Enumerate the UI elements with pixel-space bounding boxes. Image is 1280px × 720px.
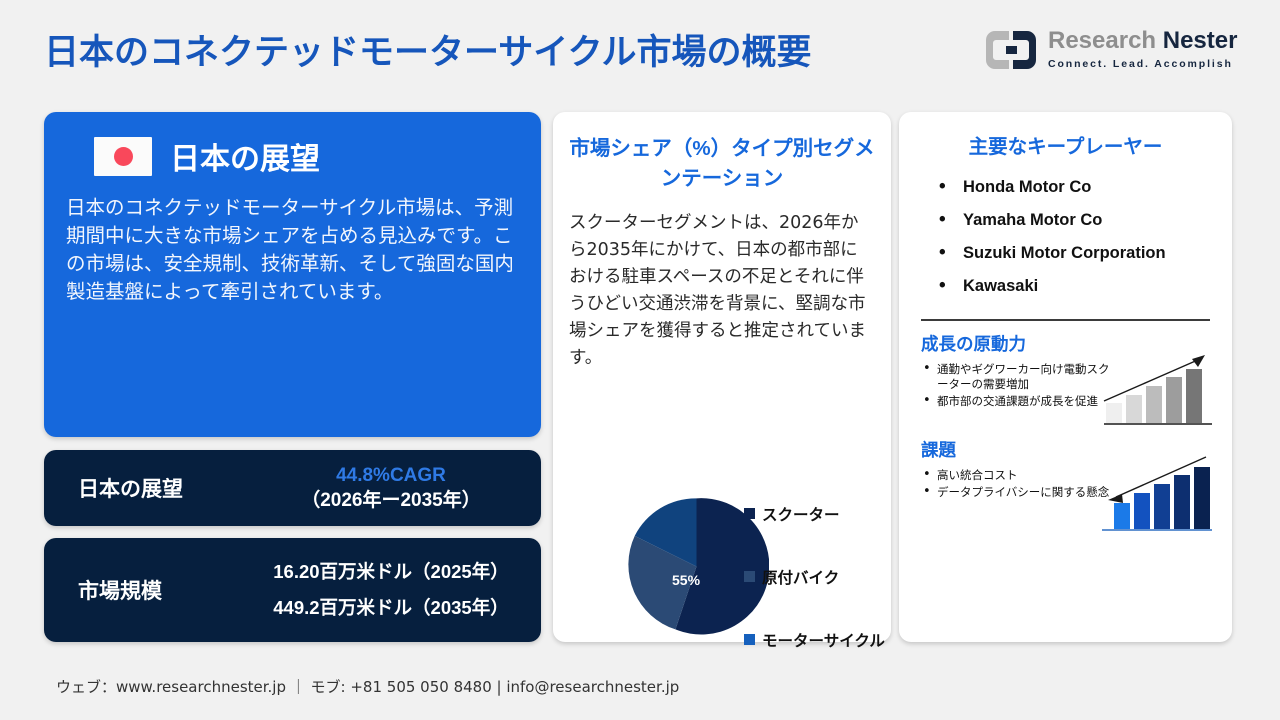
logo-tagline: Connect. Lead. Accomplish [1048, 58, 1233, 70]
cagr-stat-card: 日本の展望 44.8%CAGR （2026年ー2035年） [44, 450, 541, 526]
market-share-body: スクーターセグメントは、2026年から2035年にかけて、日本の都市部における駐… [569, 210, 875, 372]
legend-label-motorcycle: モーターサイクル [762, 629, 885, 651]
market-share-title: 市場シェア（%）タイプ別セグメンテーション [569, 134, 875, 194]
key-players-card: 主要なキープレーヤー Honda Motor Co Yamaha Motor C… [899, 112, 1232, 642]
market-size-2035: 449.2百万米ドル（2035年） [249, 590, 533, 626]
outlook-card-title: 日本の展望 [170, 134, 320, 178]
legend-swatch-scooter [744, 508, 755, 519]
key-players-title: 主要なキープレーヤー [913, 130, 1218, 159]
logo-mark-icon [982, 31, 1040, 69]
list-item: 高い統合コスト [921, 468, 1116, 483]
market-size-card: 市場規模 16.20百万米ドル（2025年） 449.2百万米ドル（2035年） [44, 538, 541, 642]
cagr-period: （2026年ー2035年） [249, 488, 533, 513]
cagr-stat-values: 44.8%CAGR （2026年ー2035年） [249, 464, 541, 513]
list-item: Kawasaki [939, 270, 1218, 303]
legend-item-scooter: スクーター [744, 482, 924, 545]
outlook-card-header: 日本の展望 [94, 134, 519, 178]
japan-outlook-card: 日本の展望 日本のコネクテッドモーターサイクル市場は、予測期間中に大きな市場シェ… [44, 112, 541, 437]
list-item: 通勤やギグワーカー向け電動スクーターの需要増加 [921, 362, 1116, 392]
pie-chart-area: 55% スクーター 原付バイク モーターサイクル [569, 512, 875, 632]
list-item: Suzuki Motor Corporation [939, 237, 1218, 270]
cagr-stat-label: 日本の展望 [44, 473, 249, 503]
legend-swatch-motorcycle [744, 634, 755, 645]
market-size-values: 16.20百万米ドル（2025年） 449.2百万米ドル（2035年） [249, 554, 541, 626]
challenges-section: 課題 高い統合コスト データプライバシーに関する懸念 [913, 427, 1218, 500]
research-nester-logo: Research Nester Connect. Lead. Accomplis… [982, 28, 1234, 72]
challenges-list: 高い統合コスト データプライバシーに関する懸念 [921, 468, 1116, 500]
logo-word-nester: Nester [1163, 27, 1238, 54]
list-item: 都市部の交通課題が成長を促進 [921, 394, 1116, 409]
logo-wordmark: Research Nester Connect. Lead. Accomplis… [1048, 28, 1237, 72]
legend-label-moped: 原付バイク [762, 566, 839, 588]
legend-item-moped: 原付バイク [744, 545, 924, 608]
growth-drivers-bar-chart [1102, 347, 1214, 429]
footer-contact: ウェブ：www.researchnester.jp ｜ モブ: +81 505 … [56, 676, 679, 697]
list-item: データプライバシーに関する懸念 [921, 485, 1116, 500]
market-share-card: 市場シェア（%）タイプ別セグメンテーション スクーターセグメントは、2026年か… [553, 112, 891, 642]
challenges-bar-chart [1102, 453, 1214, 535]
pie-legend: スクーター 原付バイク モーターサイクル [744, 482, 924, 671]
cagr-value: 44.8%CAGR [249, 464, 533, 488]
page-title: 日本のコネクテッドモーターサイクル市場の概要 [44, 24, 812, 75]
list-item: Honda Motor Co [939, 171, 1218, 204]
legend-swatch-moped [744, 571, 755, 582]
pie-data-label-scooter: 55% [672, 572, 700, 588]
key-players-list: Honda Motor Co Yamaha Motor Co Suzuki Mo… [913, 171, 1218, 303]
legend-label-scooter: スクーター [762, 503, 840, 525]
japan-flag-icon [94, 137, 152, 176]
growth-drivers-list: 通勤やギグワーカー向け電動スクーターの需要増加 都市部の交通課題が成長を促進 [921, 362, 1116, 409]
market-size-2025: 16.20百万米ドル（2025年） [249, 554, 533, 590]
logo-word-research: Research [1048, 27, 1156, 54]
header: 日本のコネクテッドモーターサイクル市場の概要 Research Nester C… [0, 0, 1280, 96]
growth-drivers-section: 成長の原動力 通勤やギグワーカー向け電動スクーターの需要増加 都市部の交通課題が… [913, 321, 1218, 409]
market-size-label: 市場規模 [44, 575, 249, 605]
legend-item-motorcycle: モーターサイクル [744, 608, 924, 671]
list-item: Yamaha Motor Co [939, 204, 1218, 237]
infographic-page: 日本のコネクテッドモーターサイクル市場の概要 Research Nester C… [0, 0, 1280, 720]
outlook-card-body: 日本のコネクテッドモーターサイクル市場は、予測期間中に大きな市場シェアを占める見… [66, 194, 519, 306]
